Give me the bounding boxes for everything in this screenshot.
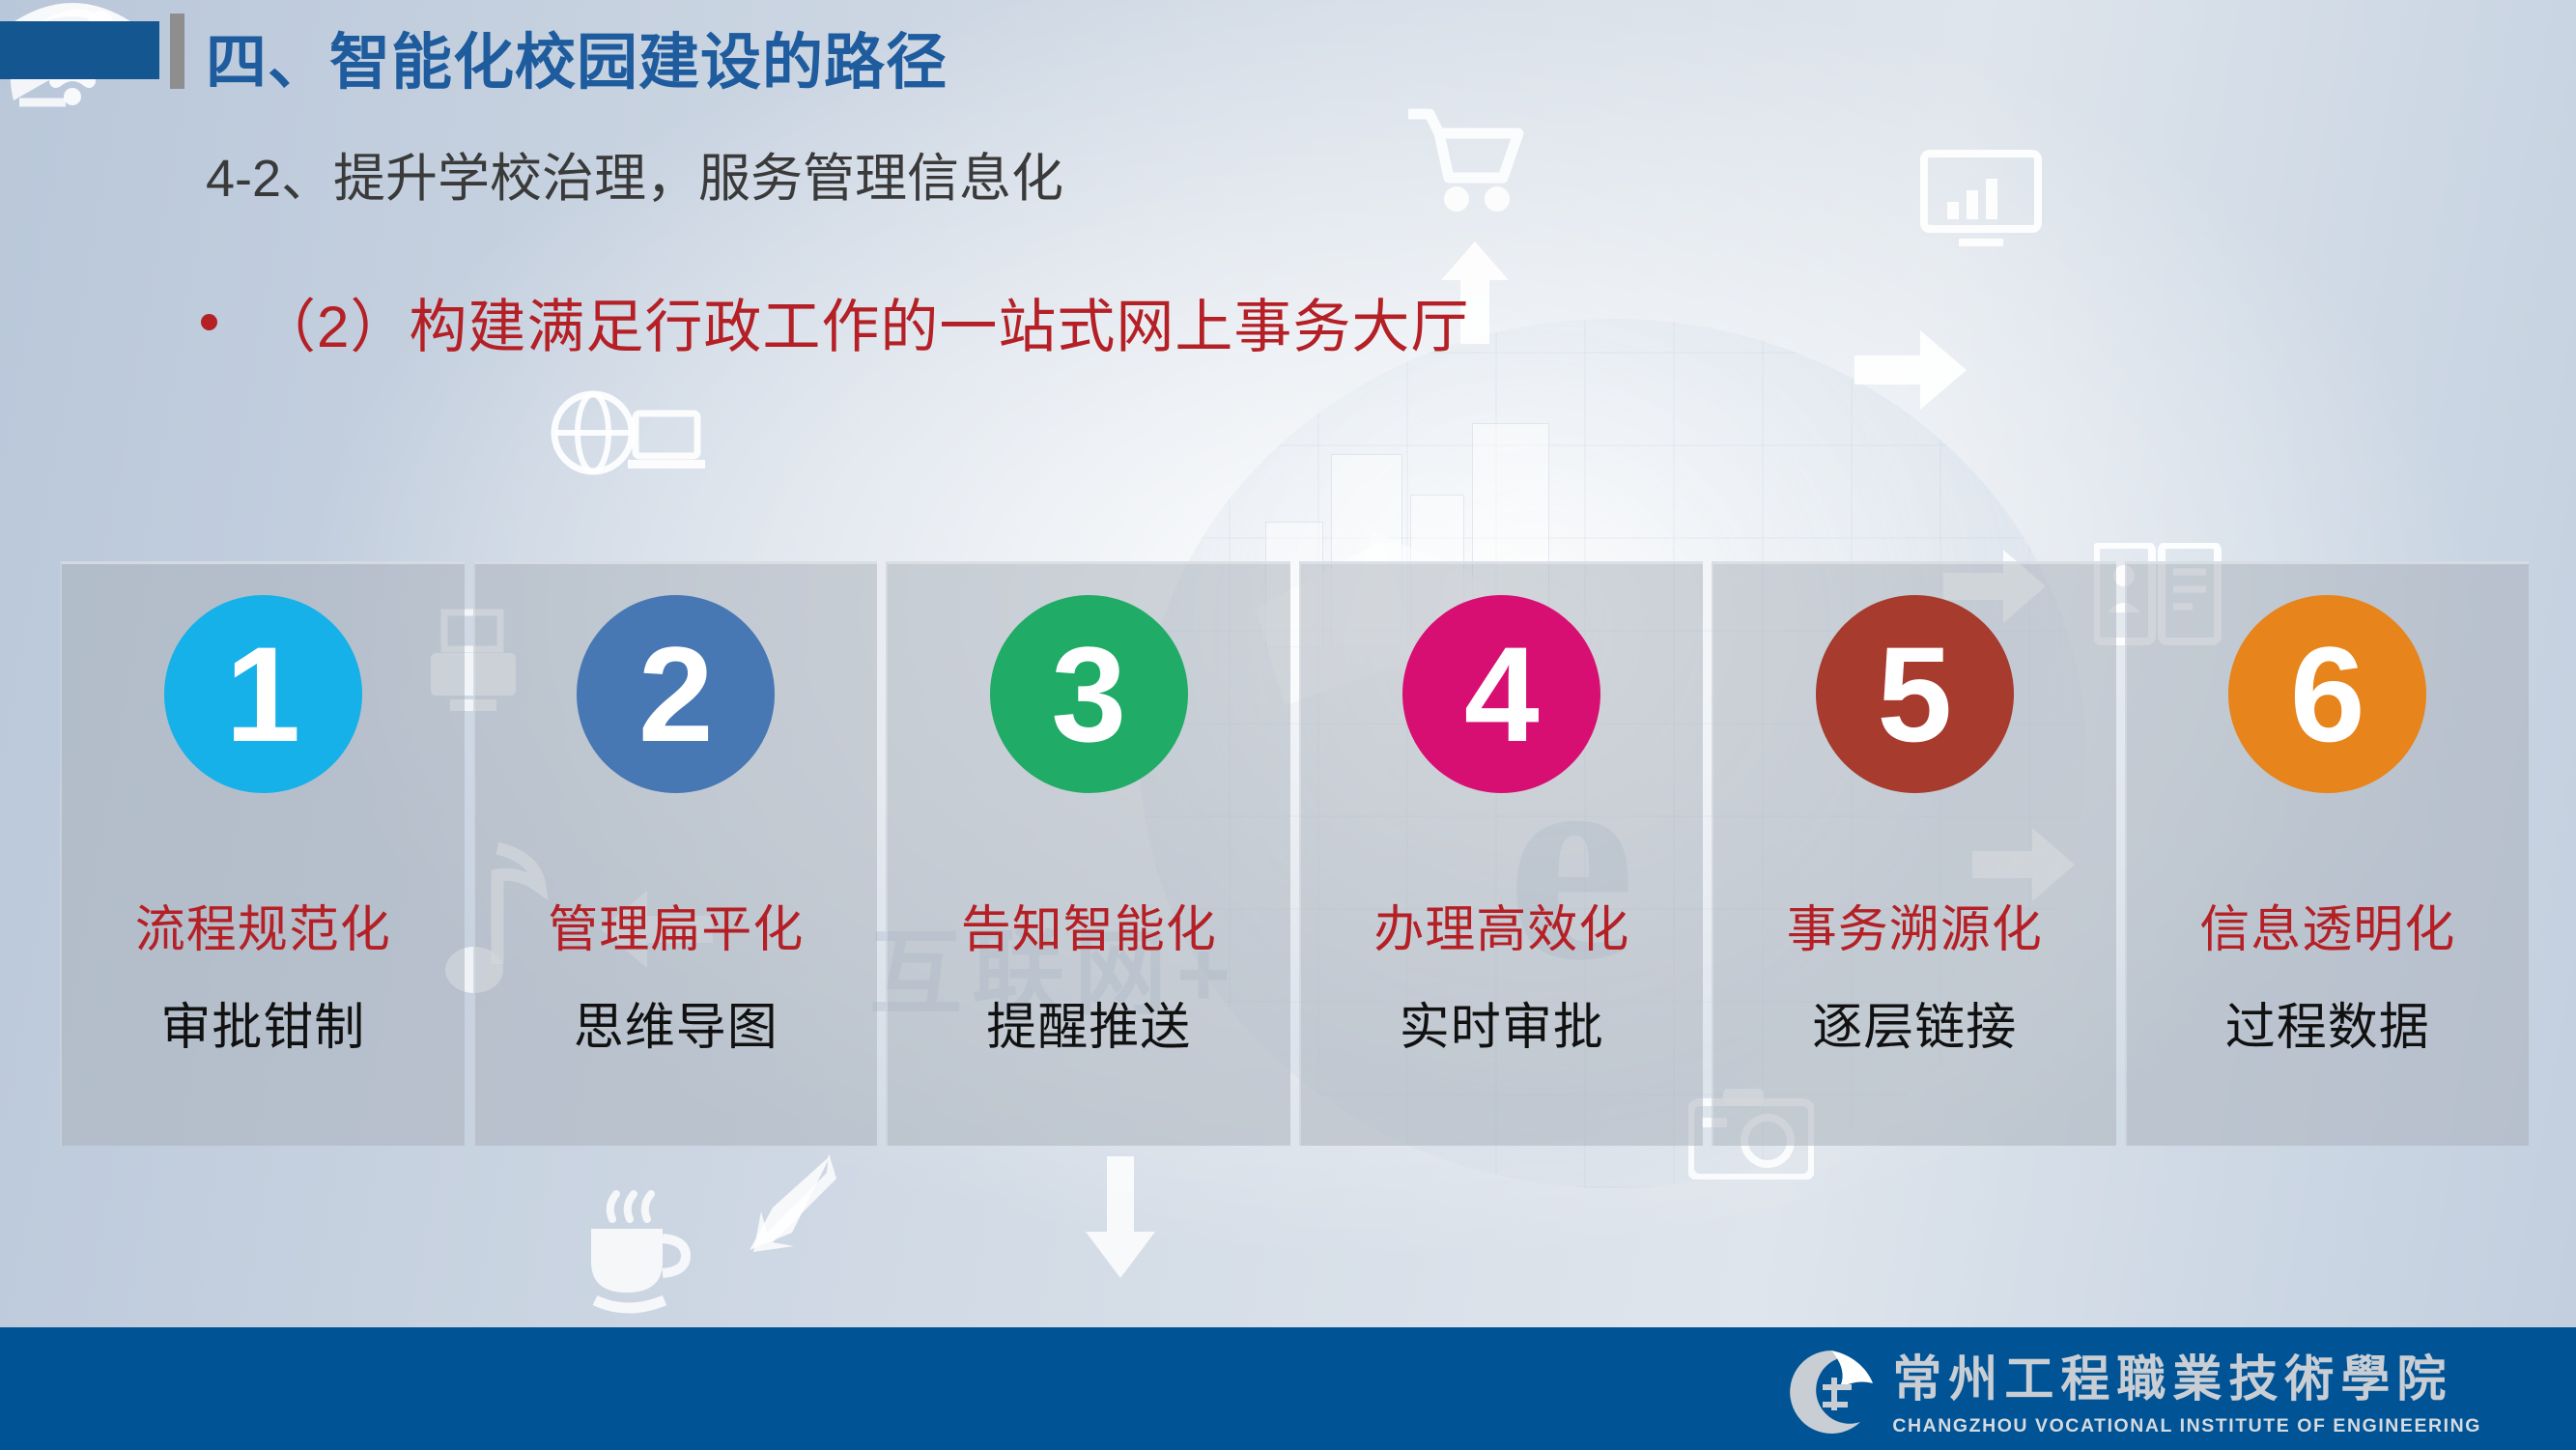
logo-name-en: CHANGZHOU VOCATIONAL INSTITUTE OF ENGINE… (1892, 1415, 2481, 1437)
monitor-icon (1920, 150, 2042, 250)
arrow-down-left-icon (734, 1150, 840, 1256)
slide-canvas: e 互联网+ (0, 0, 2576, 1450)
panel-subtitle-3: 提醒推送 (888, 986, 1290, 1059)
step-number-badge-6: 6 (2228, 595, 2426, 793)
panel-1[interactable]: 1 流程规范化 审批钳制 (60, 561, 465, 1146)
panel-3[interactable]: 3 告知智能化 提醒推送 (886, 561, 1290, 1146)
step-number-badge-5: 5 (1816, 595, 2014, 793)
step-number-badge-1: 1 (164, 595, 362, 793)
arrow-down-icon (1082, 1154, 1159, 1280)
bullet-dot-icon (201, 314, 217, 330)
panel-subtitle-5: 逐层链接 (1713, 986, 2116, 1059)
logo-name-cn: 常州工程職業技術學院 (1892, 1354, 2481, 1407)
university-logo: 常州工程職業技術學院 CHANGZHOU VOCATIONAL INSTITUT… (1784, 1345, 2481, 1439)
panel-6[interactable]: 6 信息透明化 过程数据 (2125, 561, 2530, 1146)
panel-title-2: 管理扁平化 (475, 889, 878, 961)
panel-4[interactable]: 4 办理高效化 实时审批 (1299, 561, 1704, 1146)
step-number-badge-3: 3 (990, 595, 1188, 793)
step-number-badge-2: 2 (577, 595, 775, 793)
header-accent-block (0, 21, 159, 79)
header-divider-bar (170, 14, 184, 89)
panel-2[interactable]: 2 管理扁平化 思维导图 (473, 561, 878, 1146)
globe-laptop-icon (551, 386, 705, 502)
footer-bar: 常州工程職業技術學院 CHANGZHOU VOCATIONAL INSTITUT… (0, 1327, 2576, 1450)
panel-title-5: 事务溯源化 (1713, 889, 2116, 961)
panel-title-6: 信息透明化 (2127, 889, 2530, 961)
panel-strip: 1 流程规范化 审批钳制 2 管理扁平化 思维导图 3 告知智能化 提醒推送 4… (60, 561, 2529, 1146)
panel-5[interactable]: 5 事务溯源化 逐层链接 (1712, 561, 2116, 1146)
panel-subtitle-1: 审批钳制 (62, 986, 465, 1059)
panel-subtitle-2: 思维导图 (475, 986, 878, 1059)
panel-title-3: 告知智能化 (888, 889, 1290, 961)
page-subtitle: 4-2、提升学校治理，服务管理信息化 (206, 135, 1063, 212)
logo-mark-icon (1784, 1345, 1879, 1439)
panel-title-1: 流程规范化 (62, 889, 465, 961)
bullet-text: （2）构建满足行政工作的一站式网上事务大厅 (258, 280, 1469, 364)
step-number-badge-4: 4 (1402, 595, 1600, 793)
panel-subtitle-4: 实时审批 (1301, 986, 1704, 1059)
panel-title-4: 办理高效化 (1301, 889, 1704, 961)
bullet-row: （2）构建满足行政工作的一站式网上事务大厅 (201, 280, 1469, 364)
page-title: 四、智能化校园建设的路径 (206, 14, 948, 101)
shopping-cart-icon (1402, 104, 1528, 230)
panel-subtitle-6: 过程数据 (2127, 986, 2530, 1059)
coffee-cup-icon (580, 1186, 695, 1322)
